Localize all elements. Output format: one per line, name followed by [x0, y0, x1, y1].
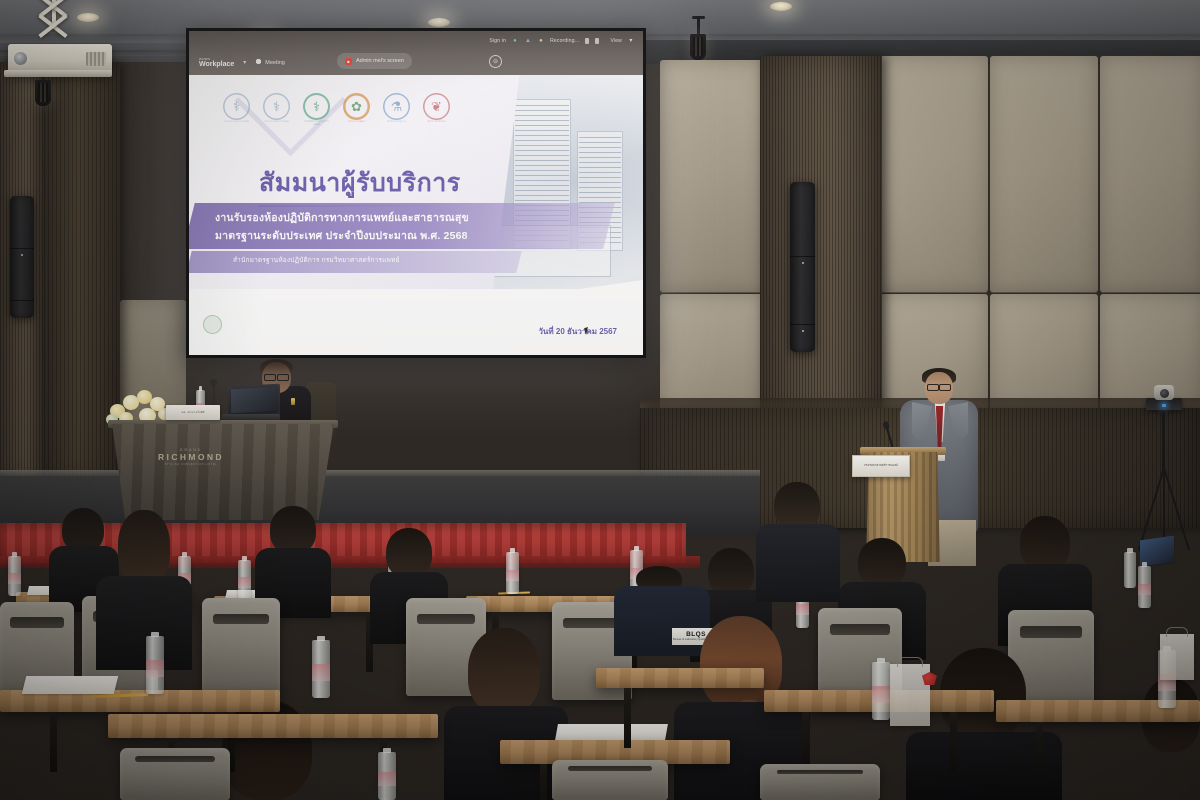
- ceiling-downlight: [770, 2, 792, 11]
- eyeglasses-icon: [264, 374, 289, 379]
- bottle-label: [378, 772, 396, 785]
- audience-head: [858, 538, 906, 588]
- audience-head: [774, 482, 820, 530]
- chair-back-slot: [568, 766, 652, 770]
- venue-logo-top: GRAND: [155, 448, 227, 452]
- chair-back-slot: [417, 614, 475, 625]
- water-bottle: [238, 560, 251, 600]
- table-microphone-head: [210, 379, 217, 386]
- banquet-chair[interactable]: [202, 598, 280, 696]
- chair-back-slot: [213, 614, 269, 625]
- venue-logo: GRAND RICHMOND STYLISH CONVENTION HOTEL: [155, 448, 227, 466]
- bottle-label: [1138, 584, 1151, 596]
- bottle-label: [146, 660, 164, 676]
- slide-org-logo-caption: สำนักมาตรฐาน: [383, 121, 410, 124]
- projector-mount: [22, 0, 96, 46]
- slide-title: สัมมนาผู้รับบริการ: [259, 163, 461, 207]
- water-bottle: [8, 556, 21, 596]
- banquet-chair[interactable]: [552, 760, 668, 800]
- water-bottle: [1124, 552, 1136, 588]
- logo-dmsc-green: ⚕: [303, 93, 330, 120]
- conference-room-photo: Sign in ● ▲ ● Recording... View ▾ zoom W…: [0, 0, 1200, 800]
- slide-footer-panel: [189, 280, 643, 355]
- podium-sign-text: กรมวิทยาศาสตร์การแพทย์: [864, 464, 898, 467]
- chair-back-slot: [1020, 626, 1082, 637]
- pause-icon[interactable]: [585, 38, 589, 44]
- zoom-meeting-tab[interactable]: Meeting: [255, 59, 285, 67]
- bottle-label: [796, 604, 809, 616]
- wall-panel: [660, 60, 764, 292]
- tripod-center-column: [1162, 410, 1165, 472]
- stop-icon[interactable]: [595, 38, 599, 44]
- bottle-label: [312, 664, 330, 680]
- slide-org-logo-caption: กรมวิทยาศาสตร์การแพทย์: [303, 121, 330, 127]
- chair-back-slot: [777, 770, 863, 774]
- bottle-label: [238, 577, 251, 588]
- water-bottle: [872, 662, 890, 720]
- meeting-icon: [255, 59, 262, 67]
- slide-org-logo-caption: กระทรวงสาธารณสุข: [263, 121, 290, 124]
- zoom-top-bar: Sign in ● ▲ ● Recording... View ▾: [189, 31, 643, 50]
- audience-torso: [96, 576, 192, 670]
- bottle-label: [8, 573, 21, 584]
- tripod-leg: [1163, 468, 1165, 546]
- presentation-slide: ⚕ กระทรวงสาธารณสุข ⚕ กระทรวงสาธารณสุข ⚕ …: [189, 75, 643, 355]
- water-bottle: [378, 752, 396, 800]
- podium-sign: กรมวิทยาศาสตร์การแพทย์: [852, 455, 910, 477]
- wall-panel: [990, 56, 1098, 292]
- slide-org-logo: ✿ กรมการแพทย์: [343, 93, 370, 124]
- venue-logo-sub: STYLISH CONVENTION HOTEL: [155, 463, 227, 466]
- logo-dept-orange: ✿: [343, 93, 370, 120]
- slide-subtitle-line-2: มาตรฐานระดับประเทศ ประจำปีงบประมาณ พ.ศ. …: [215, 227, 468, 244]
- handout-paper: [22, 676, 118, 694]
- camera-status-led: [1162, 404, 1166, 407]
- stop-share-icon[interactable]: ⊖: [489, 55, 502, 68]
- zoom-app-bar: zoom Workplace ▾ Meeting: [189, 50, 643, 75]
- audience-head: [118, 510, 170, 584]
- zoom-brand-small: zoom: [199, 57, 234, 61]
- audience-torso: [756, 524, 840, 602]
- zoom-recording-status: Recording...: [550, 38, 579, 44]
- water-bottle: [506, 552, 519, 594]
- chevron-down-icon[interactable]: ▾: [243, 59, 246, 66]
- logo-moph-emblem-2: ⚕: [263, 93, 290, 120]
- slide-org-logo-caption: กรมการแพทย์: [343, 121, 370, 124]
- zoom-sign-in-link[interactable]: Sign in: [489, 38, 506, 44]
- bottle-label: [872, 686, 890, 702]
- ceiling-downlight: [428, 18, 450, 27]
- zoom-brand: zoom Workplace: [199, 57, 234, 68]
- seated-official-lapel-pin: [291, 398, 295, 405]
- chair-back-slot: [10, 617, 63, 628]
- slide-org-logo: ⚕ กระทรวงสาธารณสุข: [223, 93, 250, 124]
- nameplate-text: นพ. ประธานในพิธี: [181, 411, 204, 415]
- zoom-screen-share-banner: ■ Admin mel's screen: [337, 53, 412, 69]
- slide-subtitle-line-1: งานรับรองห้องปฏิบัติการทางการแพทย์และสาธ…: [215, 209, 469, 226]
- projector-lens: [14, 52, 27, 65]
- laptop-screen: [228, 384, 280, 418]
- logo-moph-emblem-1: ⚕: [223, 93, 250, 120]
- chevron-down-icon[interactable]: ▾: [627, 37, 635, 45]
- line-array-speaker-right: [790, 182, 815, 352]
- logo-lab-blue: ⚗: [383, 93, 410, 120]
- line-array-speaker-left: [10, 196, 34, 318]
- audience-table: [108, 714, 438, 738]
- zoom-brand-main: Workplace: [199, 61, 234, 68]
- wall-panel: [1100, 56, 1200, 292]
- banquet-chair[interactable]: [760, 764, 880, 800]
- projector-plate: [4, 70, 112, 77]
- gift-bag: [1160, 634, 1194, 680]
- audience-head: [468, 628, 540, 714]
- chair-back-slot: [135, 756, 214, 762]
- slide-logo-row: ⚕ กระทรวงสาธารณสุข ⚕ กระทรวงสาธารณสุข ⚕ …: [223, 93, 450, 127]
- record-dot-icon: ●: [537, 37, 545, 45]
- gift-bag: [890, 664, 930, 726]
- water-bottle: [312, 640, 330, 698]
- zoom-window-chrome: Sign in ● ▲ ● Recording... View ▾ zoom W…: [189, 31, 643, 75]
- wall-sconce-left: [35, 80, 51, 106]
- audience-head: [270, 506, 316, 554]
- audience-table: [596, 668, 764, 688]
- head-table-nameplate: นพ. ประธานในพิธี: [166, 405, 220, 420]
- slide-title-text: สัมมนาผู้รับบริการ: [259, 169, 461, 197]
- chair-back-slot: [563, 618, 621, 629]
- slide-org-logo: ⚗ สำนักมาตรฐาน: [383, 93, 410, 124]
- venue-logo-name: RICHMOND: [155, 452, 227, 462]
- gift-bag-handle: [1166, 627, 1188, 637]
- slide-org-logo: ❦ สภากาชาดไทย: [423, 93, 450, 124]
- slide-org-logo: ⚕ กระทรวงสาธารณสุข: [263, 93, 290, 124]
- sconce-arm: [697, 16, 700, 36]
- wall-sconce-right: [690, 34, 706, 60]
- slide-org-logo-caption: สภากาชาดไทย: [423, 121, 450, 124]
- slide-seal-icon: [203, 315, 222, 334]
- eyeglasses-icon: [927, 384, 951, 389]
- gift-bag-handle: [897, 657, 923, 667]
- audience-head: [1020, 516, 1070, 570]
- slide-org-logo: ⚕ กรมวิทยาศาสตร์การแพทย์: [303, 93, 330, 127]
- audience-torso: [614, 586, 710, 656]
- projection-screen: Sign in ● ▲ ● Recording... View ▾ zoom W…: [186, 28, 646, 358]
- head-table-skirt: [112, 424, 334, 520]
- water-bottle: [146, 636, 164, 694]
- banquet-chair[interactable]: [120, 748, 230, 800]
- logo-red-crest: ❦: [423, 93, 450, 120]
- projector-vent: [86, 52, 106, 66]
- audience-head: [708, 548, 754, 596]
- projected-image: Sign in ● ▲ ● Recording... View ▾ zoom W…: [189, 31, 643, 355]
- audience-head: [386, 528, 432, 578]
- camera-lens-icon: [1160, 389, 1169, 398]
- slide-org-logo-caption: กระทรวงสาธารณสุข: [223, 121, 250, 124]
- slide-organization: สำนักมาตรฐานห้องปฏิบัติการ กรมวิทยาศาสตร…: [233, 255, 400, 265]
- slide-date: วันที่ 20 ธันวาคม 2567: [538, 325, 617, 338]
- zoom-share-label: Admin mel's screen: [356, 58, 404, 64]
- chair-back-slot: [830, 624, 891, 635]
- zoom-meeting-label: Meeting: [265, 60, 285, 66]
- screen-share-icon: ■: [345, 58, 352, 65]
- wall-panel: [880, 56, 988, 292]
- water-bottle: [1138, 566, 1151, 608]
- bottle-label: [506, 570, 519, 582]
- zoom-view-button[interactable]: View: [610, 38, 622, 44]
- shield-icon[interactable]: ●: [511, 37, 519, 45]
- network-icon[interactable]: ▲: [524, 37, 532, 45]
